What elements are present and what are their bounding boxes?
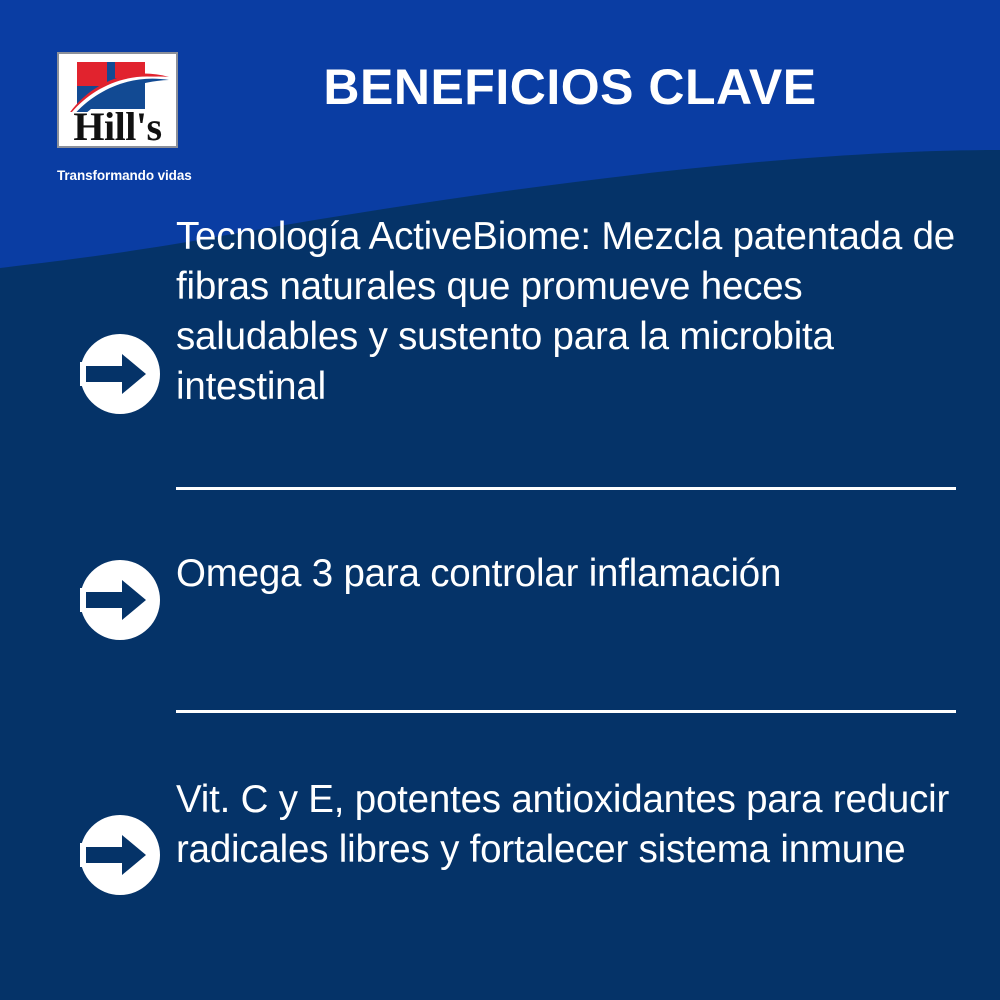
arrow-right-circle-icon: [78, 558, 162, 642]
logo-card: Hill's: [57, 52, 178, 148]
benefit-text-3: Vit. C y E, potentes antioxidantes para …: [176, 775, 966, 875]
arrow-right-circle-icon: [78, 813, 162, 897]
page-title: BENEFICIOS CLAVE: [220, 62, 920, 112]
arrow-right-circle-icon: [78, 332, 162, 416]
benefits-card: BENEFICIOS CLAVE Hill's Transformando vi…: [0, 0, 1000, 1000]
logo-wordmark: Hill's: [59, 106, 176, 148]
benefit-text-1: Tecnología ActiveBiome: Mezcla patentada…: [176, 212, 966, 412]
brand-logo: Hill's: [57, 52, 180, 148]
divider-1: [176, 487, 956, 490]
divider-2: [176, 710, 956, 713]
benefit-text-2: Omega 3 para controlar inflamación: [176, 549, 966, 599]
logo-tagline: Transformando vidas: [57, 168, 197, 183]
